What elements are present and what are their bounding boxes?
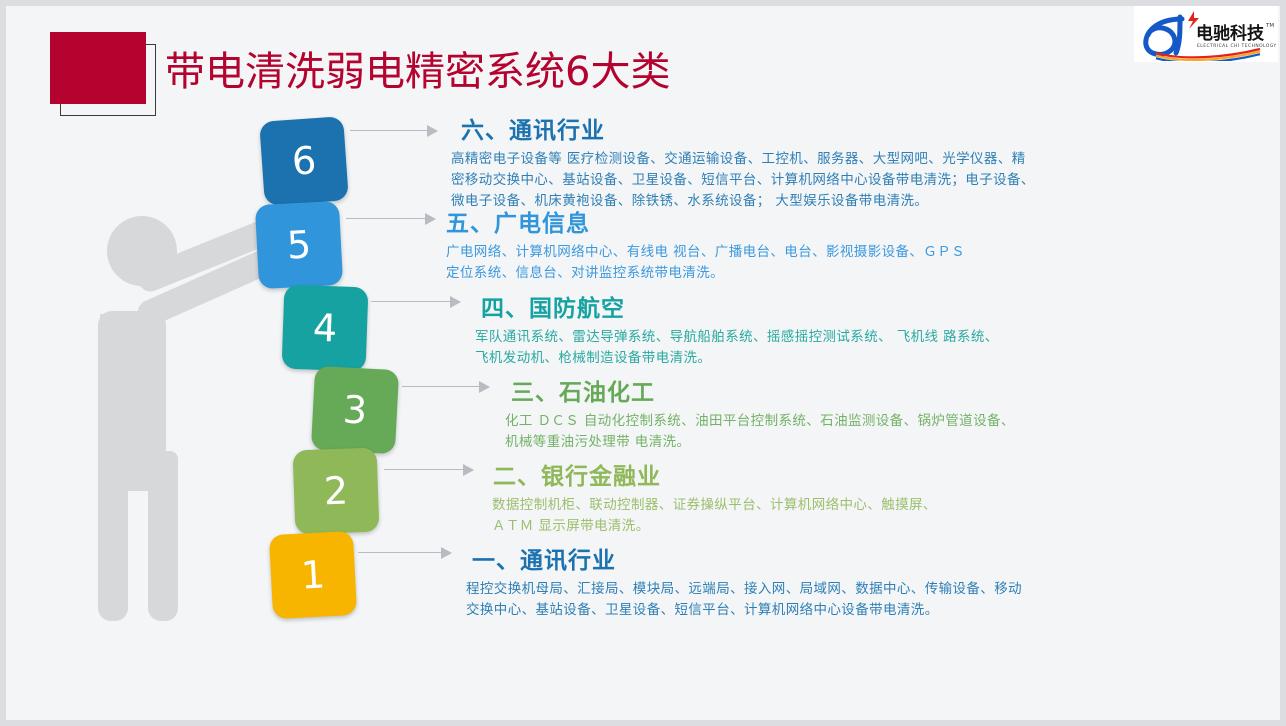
section-5-body-line-1: 广电网络、计算机网络中心、有线电 视台、广播电台、电台、影视摄影设备、ＧＰＳ bbox=[446, 242, 965, 263]
section-1-body: 程控交换机母局、汇接局、模块局、远端局、接入网、局域网、数据中心、传输设备、移动… bbox=[466, 579, 1022, 621]
section-6-body: 高精密电子设备等 医疗检测设备、交通运输设备、工控机、服务器、大型网吧、光学仪器… bbox=[451, 149, 1035, 212]
step-block-5[interactable]: 5 bbox=[255, 201, 343, 289]
connector-arrow-2 bbox=[384, 464, 476, 476]
logo-trademark: TM bbox=[1265, 23, 1274, 29]
section-6-body-line-1: 高精密电子设备等 医疗检测设备、交通运输设备、工控机、服务器、大型网吧、光学仪器… bbox=[451, 149, 1035, 170]
section-3-body-line-2: 机械等重油污处理带 电清洗。 bbox=[505, 432, 1015, 453]
section-3-heading: 三、石油化工 bbox=[511, 378, 1015, 408]
step-block-2-label: 2 bbox=[323, 469, 349, 514]
section-3-body: 化工 ＤＣＳ 自动化控制系统、油田平台控制系统、石油监测设备、锅炉管道设备、 机… bbox=[505, 411, 1015, 453]
section-4-body-line-2: 飞机发动机、枪械制造设备带电清洗。 bbox=[475, 348, 999, 369]
title-square bbox=[50, 32, 146, 104]
section-6-heading: 六、通讯行业 bbox=[461, 116, 1035, 146]
connector-arrow-5 bbox=[346, 213, 438, 225]
section-3-body-line-1: 化工 ＤＣＳ 自动化控制系统、油田平台控制系统、石油监测设备、锅炉管道设备、 bbox=[505, 411, 1015, 432]
step-block-6-label: 6 bbox=[290, 138, 317, 184]
section-4-heading: 四、国防航空 bbox=[481, 294, 999, 324]
section-2-heading: 二、银行金融业 bbox=[493, 462, 937, 492]
section-4-body-line-1: 军队通讯系统、雷达导弹系统、导航船舶系统、摇感摇控测试系统、 飞机线 路系统、 bbox=[475, 327, 999, 348]
connector-arrow-1 bbox=[358, 547, 454, 559]
section-2-body-line-1: 数据控制机柜、联动控制器、证券操纵平台、计算机网络中心、触摸屏、 bbox=[492, 495, 937, 516]
section-3: 三、石油化工 化工 ＤＣＳ 自动化控制系统、油田平台控制系统、石油监测设备、锅炉… bbox=[511, 378, 1015, 453]
section-1-body-line-1: 程控交换机母局、汇接局、模块局、远端局、接入网、局域网、数据中心、传输设备、移动 bbox=[466, 579, 1022, 600]
section-5-heading: 五、广电信息 bbox=[446, 209, 965, 239]
section-5: 五、广电信息 广电网络、计算机网络中心、有线电 视台、广播电台、电台、影视摄影设… bbox=[446, 209, 965, 284]
logo-graphic: 电驰科技 ELECTRICAL CHI TECHNOLOGY TM bbox=[1136, 7, 1276, 61]
section-4-body: 军队通讯系统、雷达导弹系统、导航船舶系统、摇感摇控测试系统、 飞机线 路系统、 … bbox=[475, 327, 999, 369]
step-block-5-label: 5 bbox=[286, 222, 312, 267]
section-2-body-line-2: ＡＴＭ 显示屏带电清洗。 bbox=[492, 516, 937, 537]
section-5-body: 广电网络、计算机网络中心、有线电 视台、广播电台、电台、影视摄影设备、ＧＰＳ 定… bbox=[446, 242, 965, 284]
step-block-2[interactable]: 2 bbox=[293, 448, 380, 535]
step-block-3[interactable]: 3 bbox=[311, 366, 399, 454]
section-2-body: 数据控制机柜、联动控制器、证券操纵平台、计算机网络中心、触摸屏、 ＡＴＭ 显示屏… bbox=[492, 495, 937, 537]
step-block-1[interactable]: 1 bbox=[269, 531, 357, 619]
step-block-6[interactable]: 6 bbox=[259, 116, 349, 206]
section-1: 一、通讯行业 程控交换机母局、汇接局、模块局、远端局、接入网、局域网、数据中心、… bbox=[472, 546, 1022, 621]
logo-brand-en: ELECTRICAL CHI TECHNOLOGY bbox=[1197, 43, 1276, 49]
step-block-4[interactable]: 4 bbox=[282, 285, 369, 372]
connector-arrow-3 bbox=[402, 381, 492, 393]
connector-arrow-4 bbox=[371, 296, 463, 308]
slide-canvas: 电驰科技 ELECTRICAL CHI TECHNOLOGY TM 带电清洗弱电… bbox=[6, 6, 1280, 720]
section-6-body-line-2: 密移动交换中心、基站设备、卫星设备、短信平台、计算机网络中心设备带电清洗；电子设… bbox=[451, 170, 1035, 191]
page-title: 带电清洗弱电精密系统6大类 bbox=[165, 45, 670, 99]
logo-brand-cn: 电驰科技 bbox=[1196, 23, 1265, 44]
section-1-heading: 一、通讯行业 bbox=[472, 546, 1022, 576]
section-2: 二、银行金融业 数据控制机柜、联动控制器、证券操纵平台、计算机网络中心、触摸屏、… bbox=[493, 462, 937, 537]
step-block-1-label: 1 bbox=[300, 552, 326, 597]
company-logo: 电驰科技 ELECTRICAL CHI TECHNOLOGY TM bbox=[1134, 6, 1278, 62]
step-block-4-label: 4 bbox=[312, 306, 338, 351]
section-4: 四、国防航空 军队通讯系统、雷达导弹系统、导航船舶系统、摇感摇控测试系统、 飞机… bbox=[481, 294, 999, 369]
connector-arrow-6 bbox=[350, 125, 440, 137]
step-block-3-label: 3 bbox=[342, 387, 368, 432]
section-6: 六、通讯行业 高精密电子设备等 医疗检测设备、交通运输设备、工控机、服务器、大型… bbox=[461, 116, 1035, 212]
section-5-body-line-2: 定位系统、信息台、对讲监控系统带电清洗。 bbox=[446, 263, 965, 284]
section-1-body-line-2: 交换中心、基站设备、卫星设备、短信平台、计算机网络中心设备带电清洗。 bbox=[466, 600, 1022, 621]
